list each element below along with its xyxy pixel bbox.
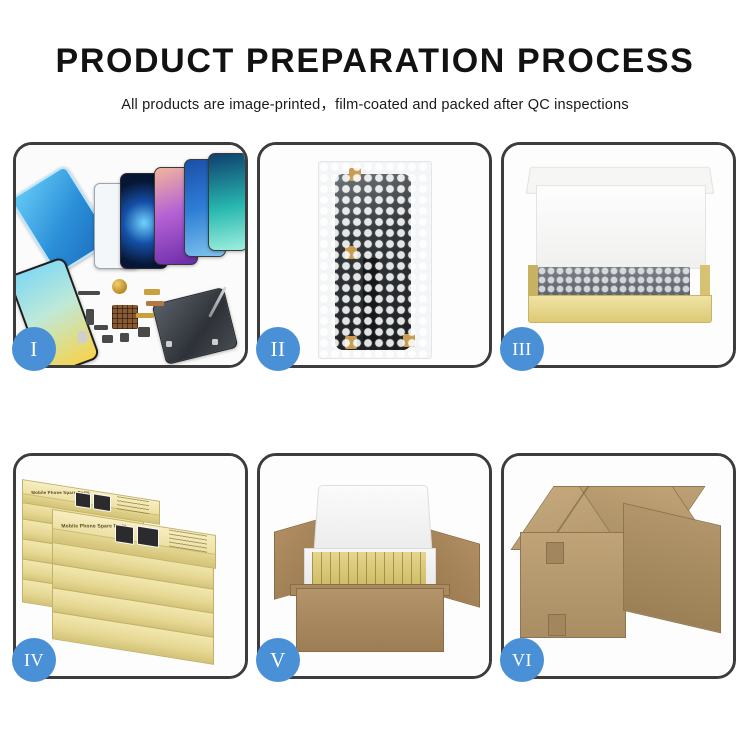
- part-strip-5: [120, 333, 129, 342]
- carton-front-face: [520, 532, 626, 638]
- bubble-wrapped-contents: [538, 267, 690, 297]
- step-6-image: [504, 456, 733, 676]
- step-5-image: [260, 456, 489, 676]
- screw-2: [212, 339, 218, 345]
- box-label-window: [75, 491, 91, 509]
- bubble-wrap-bag: [318, 161, 432, 359]
- part-strip-6: [138, 327, 150, 337]
- part-strip-1: [78, 291, 100, 295]
- box-front-panel: [528, 295, 712, 323]
- step-3-image: [504, 145, 733, 365]
- step-1-image: [16, 145, 245, 365]
- part-gold-1: [144, 289, 160, 295]
- step-4-image: Mobile Phone Spare Parts Mobile Phone Sp…: [16, 456, 245, 676]
- part-strip-3: [94, 325, 108, 330]
- carton-tape-bottom: [548, 614, 566, 636]
- box-label-window: [137, 525, 159, 547]
- process-step-3: III: [501, 142, 736, 368]
- bubble-texture: [538, 267, 690, 297]
- foam-liner: [536, 185, 706, 269]
- speaker-module: [112, 279, 127, 294]
- foam-box-lid: [314, 485, 433, 552]
- logic-board-chip: [112, 305, 138, 329]
- process-step-2: II: [257, 142, 492, 368]
- process-step-6: VI: [501, 453, 736, 679]
- page-header: PRODUCT PREPARATION PROCESS All products…: [0, 0, 750, 114]
- process-step-4: Mobile Phone Spare Parts Mobile Phone Sp…: [13, 453, 248, 679]
- page-title: PRODUCT PREPARATION PROCESS: [0, 0, 750, 80]
- part-gold-2: [136, 313, 154, 318]
- process-step-5: V: [257, 453, 492, 679]
- part-copper-1: [146, 301, 164, 306]
- process-step-grid: I II: [13, 142, 737, 679]
- step-5-badge: V: [256, 638, 300, 682]
- carton-side-face: [623, 503, 721, 634]
- step-4-badge: IV: [12, 638, 56, 682]
- step-1-badge: I: [12, 327, 56, 371]
- step-2-image: [260, 145, 489, 365]
- box-label-window: [93, 493, 111, 512]
- step-3-badge: III: [500, 327, 544, 371]
- page-subtitle: All products are image-printed，film-coat…: [0, 80, 750, 114]
- part-strip-4: [102, 335, 113, 343]
- process-step-1: I: [13, 142, 248, 368]
- part-strip-2: [86, 309, 94, 325]
- box-label-window: [115, 524, 134, 545]
- step-6-badge: VI: [500, 638, 544, 682]
- screw-1: [166, 341, 172, 347]
- carton-tape-top: [546, 542, 564, 564]
- step-2-badge: II: [256, 327, 300, 371]
- part-pale-1: [78, 331, 87, 343]
- bubble-texture: [319, 162, 431, 358]
- carton-front-panel: [296, 588, 444, 652]
- phone-teal: [208, 153, 245, 251]
